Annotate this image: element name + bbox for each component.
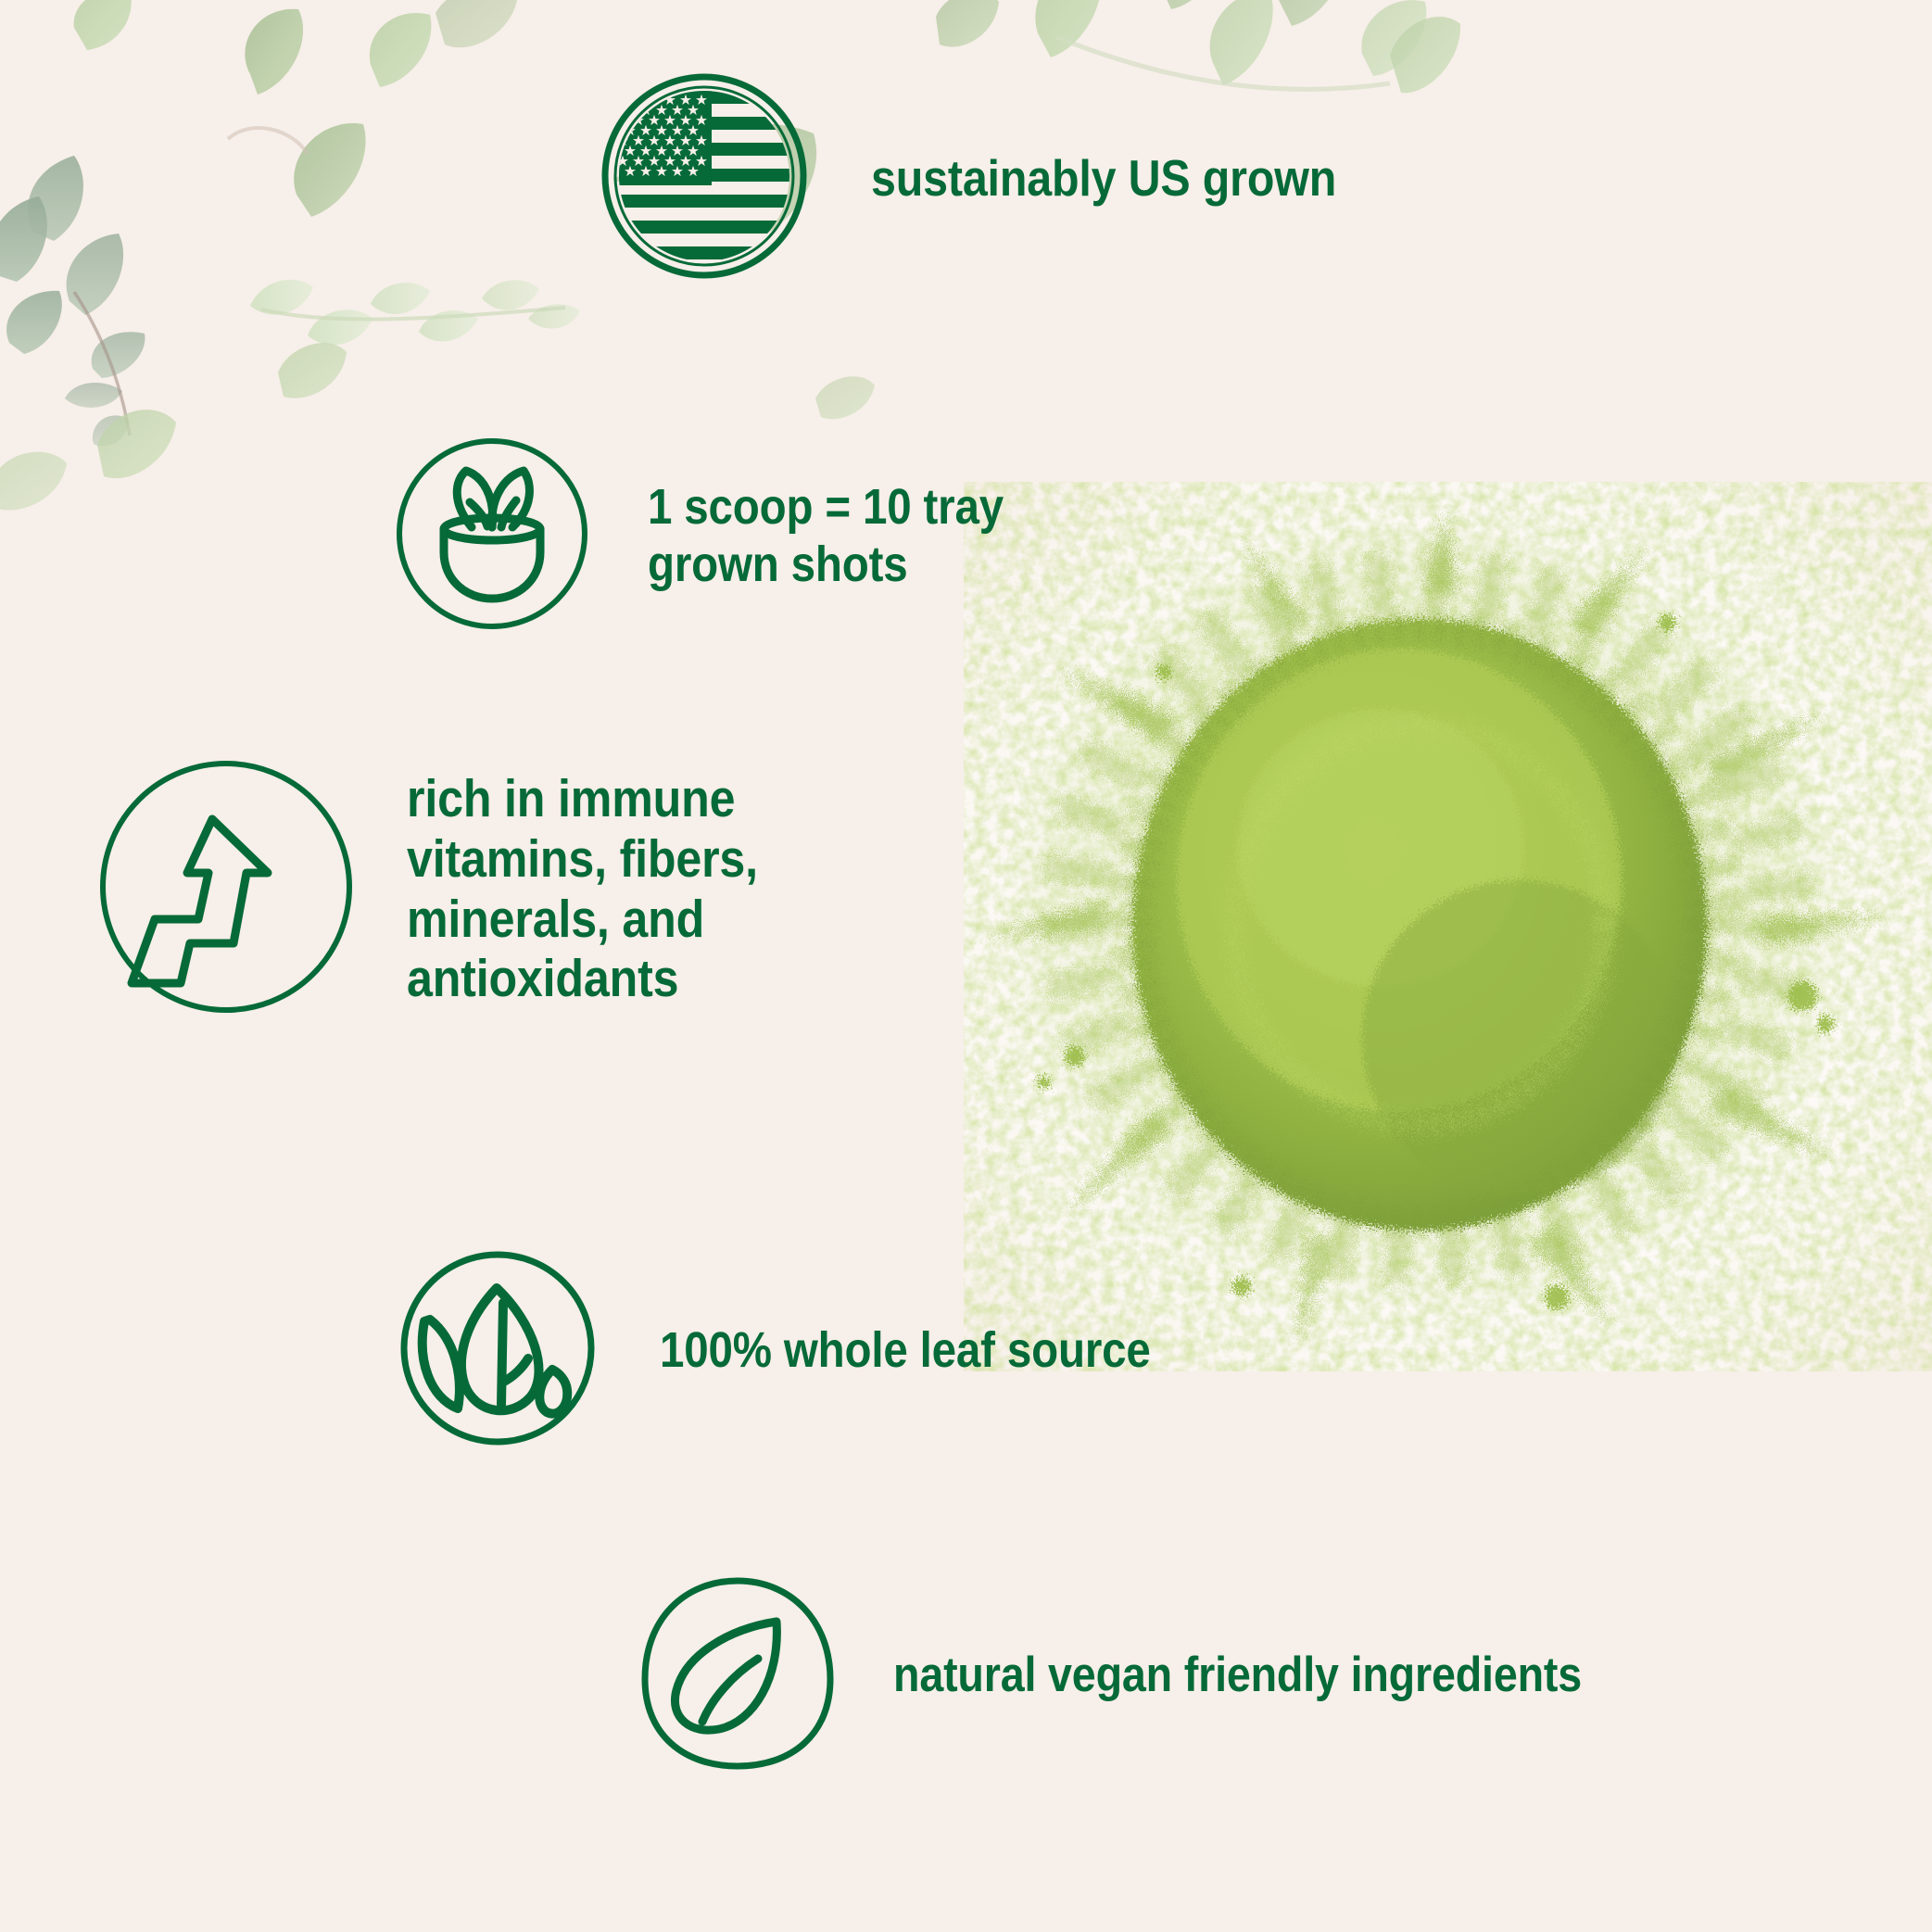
feature-row-vegan: natural vegan friendly ingredients bbox=[639, 1575, 1675, 1776]
feature-row-whole-leaf: 100% whole leaf source bbox=[398, 1249, 1218, 1452]
us-flag-badge-icon bbox=[600, 72, 808, 284]
feature-label-vegan: natural vegan friendly ingredients bbox=[893, 1648, 1582, 1703]
feature-row-scoop: 1 scoop = 10 tray grown shots bbox=[394, 436, 1052, 637]
feature-label-scoop: 1 scoop = 10 tray grown shots bbox=[648, 479, 1004, 593]
green-powder-photo bbox=[964, 482, 1932, 1371]
single-leaf-icon bbox=[639, 1575, 836, 1776]
feature-label-whole-leaf: 100% whole leaf source bbox=[660, 1322, 1151, 1380]
bowl-with-leaves-icon bbox=[394, 436, 590, 637]
two-leaves-with-droplet-icon bbox=[398, 1249, 597, 1452]
infographic-canvas: sustainably US grown 1 sc bbox=[0, 0, 1932, 1932]
feature-row-rich: rich in immune vitamins, fibers, mineral… bbox=[97, 758, 806, 1020]
upward-step-arrow-icon bbox=[97, 758, 355, 1020]
feature-label-rich: rich in immune vitamins, fibers, mineral… bbox=[407, 769, 758, 1010]
feature-label-us-grown: sustainably US grown bbox=[871, 149, 1336, 208]
feature-row-us-grown: sustainably US grown bbox=[600, 72, 1400, 284]
